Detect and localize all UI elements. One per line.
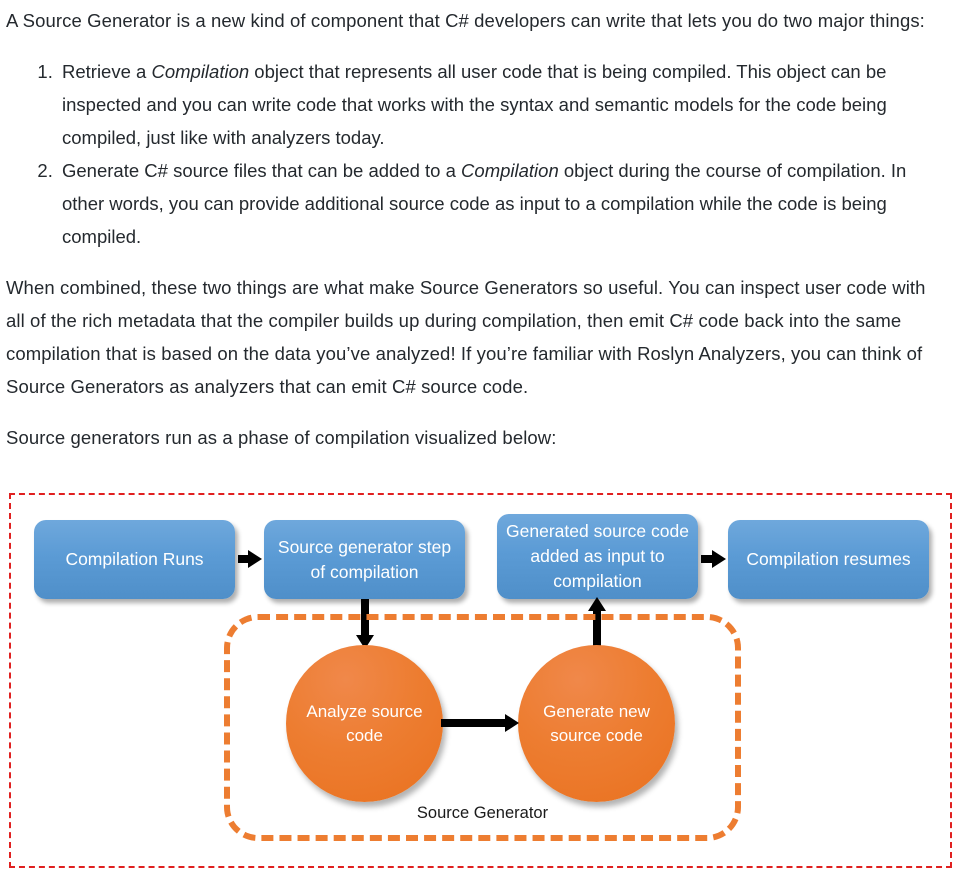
arrow-head <box>505 714 519 732</box>
arrow-head <box>588 597 606 611</box>
arrow-shaft <box>441 719 507 727</box>
source-generator-group-label: Source Generator <box>230 804 735 823</box>
paragraph-diagram-caption: Source generators run as a phase of comp… <box>6 421 949 454</box>
arrow-head <box>712 550 726 568</box>
list-item-emphasis: Compilation <box>461 160 559 181</box>
diagram-box-label: Source generator step of compilation <box>272 535 457 585</box>
list-item-emphasis: Compilation <box>151 61 249 82</box>
diagram-box-generator-step: Source generator step of compilation <box>264 520 465 599</box>
paragraph-when-combined: When combined, these two things are what… <box>6 271 949 403</box>
list-item: Generate C# source files that can be add… <box>58 154 949 253</box>
numbered-list: Retrieve a Compilation object that repre… <box>6 55 949 253</box>
list-item-text-part1: Generate C# source files that can be add… <box>62 160 461 181</box>
article-body: A Source Generator is a new kind of comp… <box>0 0 959 454</box>
list-item-text-part1: Retrieve a <box>62 61 151 82</box>
diagram-box-label: Generated source code added as input to … <box>505 519 690 594</box>
diagram-circle-generate-new-source-code: Generate new source code <box>518 645 675 802</box>
diagram-box-label: Compilation Runs <box>65 547 203 572</box>
diagram-box-generated-source-added: Generated source code added as input to … <box>497 514 698 599</box>
diagram-box-compilation-resumes: Compilation resumes <box>728 520 929 599</box>
arrow-head <box>248 550 262 568</box>
diagram-circle-label: Generate new source code <box>518 700 675 748</box>
diagram-box-label: Compilation resumes <box>746 547 910 572</box>
diagram-circle-analyze-source-code: Analyze source code <box>286 645 443 802</box>
paragraph-intro: A Source Generator is a new kind of comp… <box>6 4 949 37</box>
diagram-circle-label: Analyze source code <box>286 700 443 748</box>
compilation-phase-diagram: Compilation Runs Source generator step o… <box>9 493 952 868</box>
diagram-box-compilation-runs: Compilation Runs <box>34 520 235 599</box>
list-item: Retrieve a Compilation object that repre… <box>58 55 949 154</box>
